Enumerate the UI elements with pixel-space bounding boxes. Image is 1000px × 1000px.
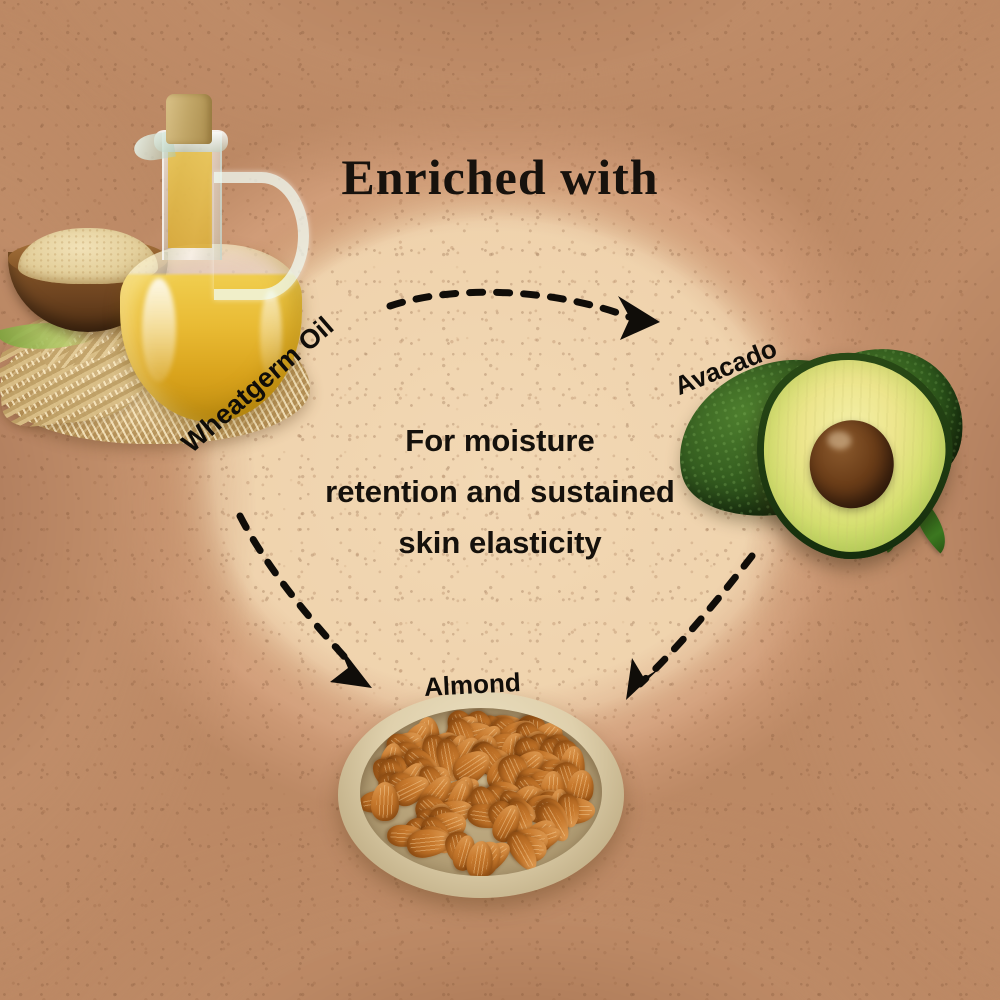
oil-bottle-handle (214, 172, 309, 300)
almond-image (338, 692, 624, 898)
promo-canvas: Enriched with (0, 0, 1000, 1000)
cork-stopper (166, 94, 212, 144)
benefit-line-3: skin elasticity (280, 517, 720, 568)
benefit-text: For moisture retention and sustained ski… (280, 415, 720, 568)
benefit-line-2: retention and sustained (280, 466, 720, 517)
almond-nut (371, 782, 400, 822)
wheatgerm-oil-image (0, 86, 322, 446)
almond-bowl-interior (360, 708, 602, 876)
ingredient-label-almond: Almond (423, 667, 521, 703)
oil-bottle-neck-oil (168, 152, 212, 248)
benefit-line-1: For moisture (280, 415, 720, 466)
